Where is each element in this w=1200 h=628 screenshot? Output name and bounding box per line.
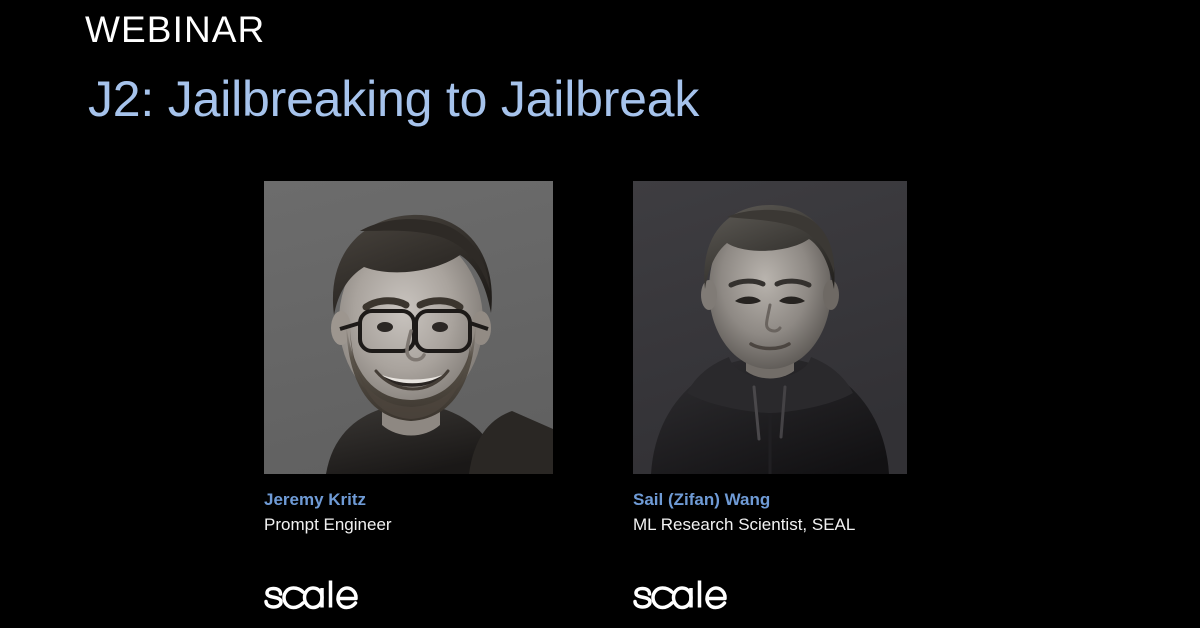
eyebrow-label: WEBINAR — [85, 11, 265, 50]
speaker-portrait-jeremy-kritz — [264, 181, 553, 474]
speaker-portrait-sail-zifan-wang — [633, 181, 907, 474]
speaker-card: Sail (Zifan) Wang ML Research Scientist,… — [633, 181, 907, 613]
speaker-role: Prompt Engineer — [264, 514, 553, 537]
speaker-name: Jeremy Kritz — [264, 489, 553, 512]
speaker-card: Jeremy Kritz Prompt Engineer — [264, 181, 553, 613]
speaker-role: ML Research Scientist, SEAL — [633, 514, 907, 537]
webinar-promo-slide: WEBINAR J2: Jailbreaking to Jailbreak — [0, 0, 1200, 628]
page-title: J2: Jailbreaking to Jailbreak — [88, 70, 699, 129]
scale-logo — [633, 579, 733, 613]
speaker-name: Sail (Zifan) Wang — [633, 489, 907, 512]
scale-logo — [264, 579, 364, 613]
